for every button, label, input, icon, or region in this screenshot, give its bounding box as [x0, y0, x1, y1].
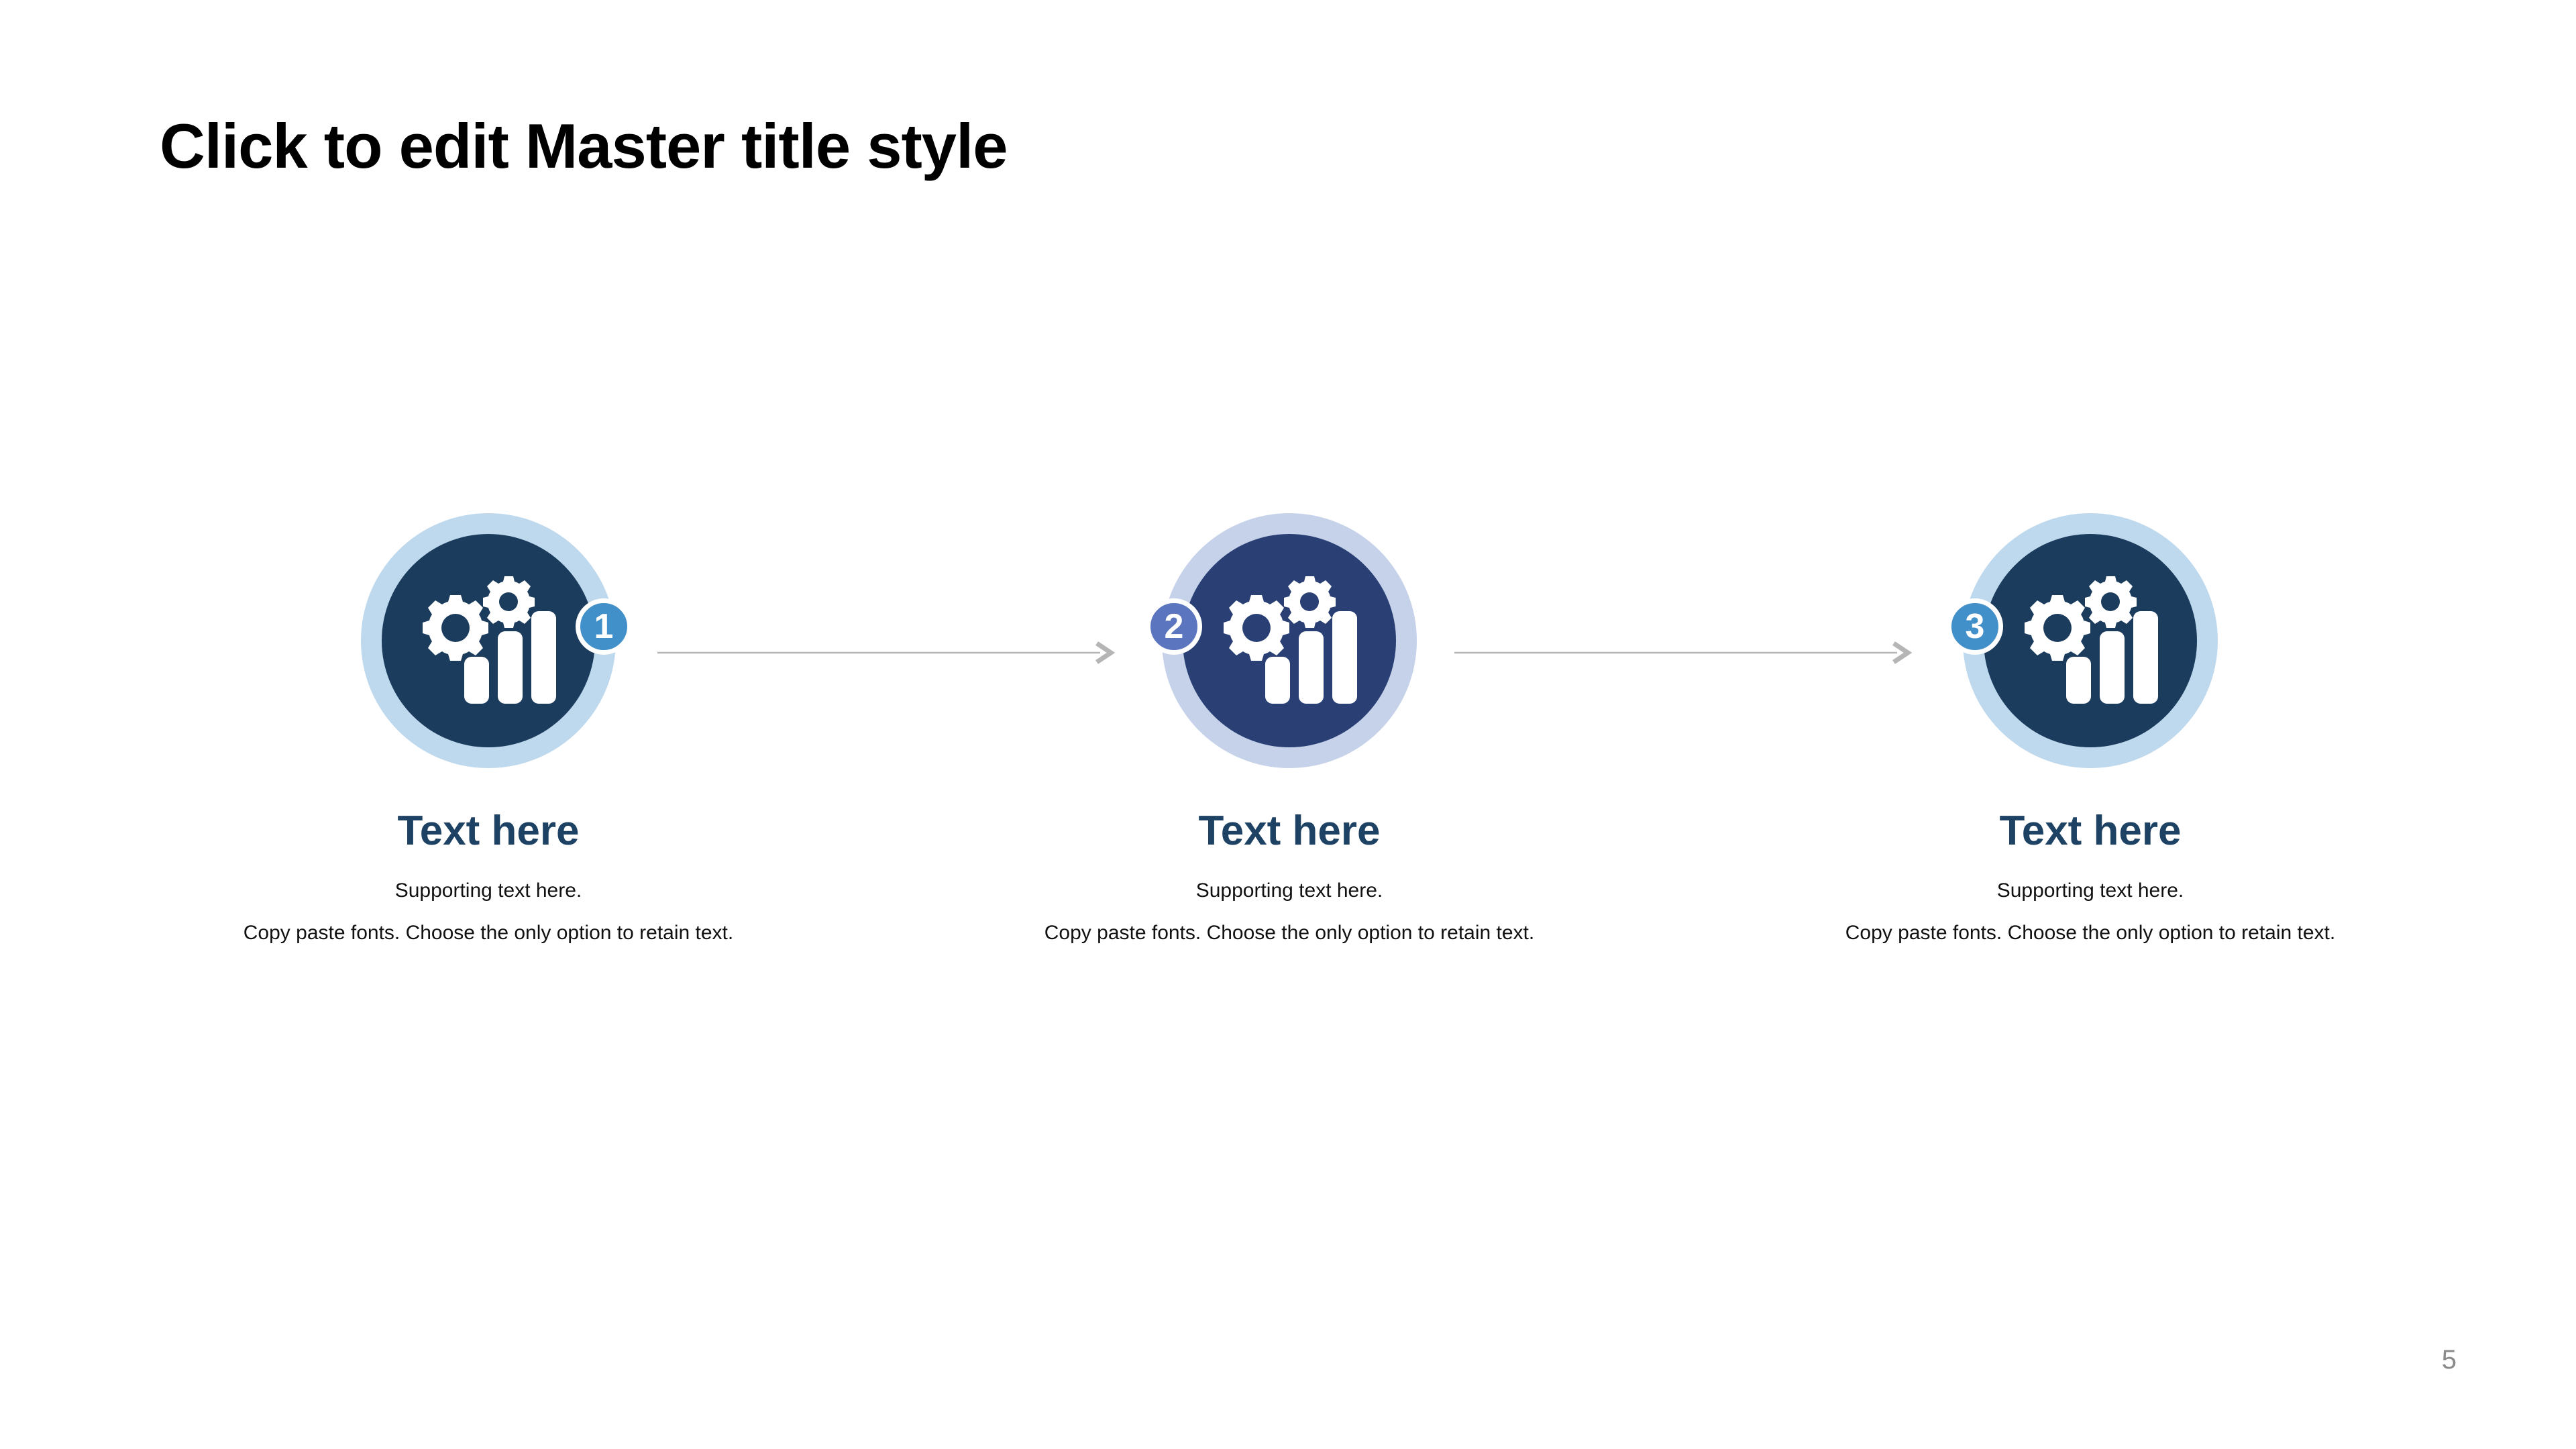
- step-2-subtitle: Supporting text here.: [1021, 877, 1558, 905]
- gears-bar-chart-icon: [413, 572, 563, 709]
- step-3-caption: Text here Supporting text here. Copy pas…: [1822, 807, 2359, 947]
- gears-bar-chart-icon: [2015, 572, 2165, 709]
- step-1-number-badge[interactable]: 1: [576, 598, 632, 655]
- step-2-number-badge[interactable]: 2: [1146, 598, 1202, 655]
- gears-bar-chart-icon: [1214, 572, 1364, 709]
- process-step-2[interactable]: 2 Text here Supporting text here. Copy p…: [1021, 513, 1558, 947]
- step-3-title: Text here: [1822, 807, 2359, 855]
- step-1-subtitle: Supporting text here.: [220, 877, 757, 905]
- step-3-node[interactable]: 3: [1963, 513, 2218, 768]
- page-number: 5: [2442, 1345, 2457, 1375]
- process-diagram: 1 Text here Supporting text here. Copy p…: [0, 0, 2576, 1449]
- step-1-caption: Text here Supporting text here. Copy pas…: [220, 807, 757, 947]
- step-2-title: Text here: [1021, 807, 1558, 855]
- process-step-1[interactable]: 1 Text here Supporting text here. Copy p…: [220, 513, 757, 947]
- step-1-node[interactable]: 1: [361, 513, 616, 768]
- step-2-caption: Text here Supporting text here. Copy pas…: [1021, 807, 1558, 947]
- step-3-body: Copy paste fonts. Choose the only option…: [1822, 920, 2359, 947]
- step-3-number-badge[interactable]: 3: [1947, 598, 2003, 655]
- step-2-node[interactable]: 2: [1162, 513, 1417, 768]
- step-2-body: Copy paste fonts. Choose the only option…: [1021, 920, 1558, 947]
- process-step-3[interactable]: 3 Text here Supporting text here. Copy p…: [1822, 513, 2359, 947]
- step-1-body: Copy paste fonts. Choose the only option…: [220, 920, 757, 947]
- step-1-title: Text here: [220, 807, 757, 855]
- step-3-subtitle: Supporting text here.: [1822, 877, 2359, 905]
